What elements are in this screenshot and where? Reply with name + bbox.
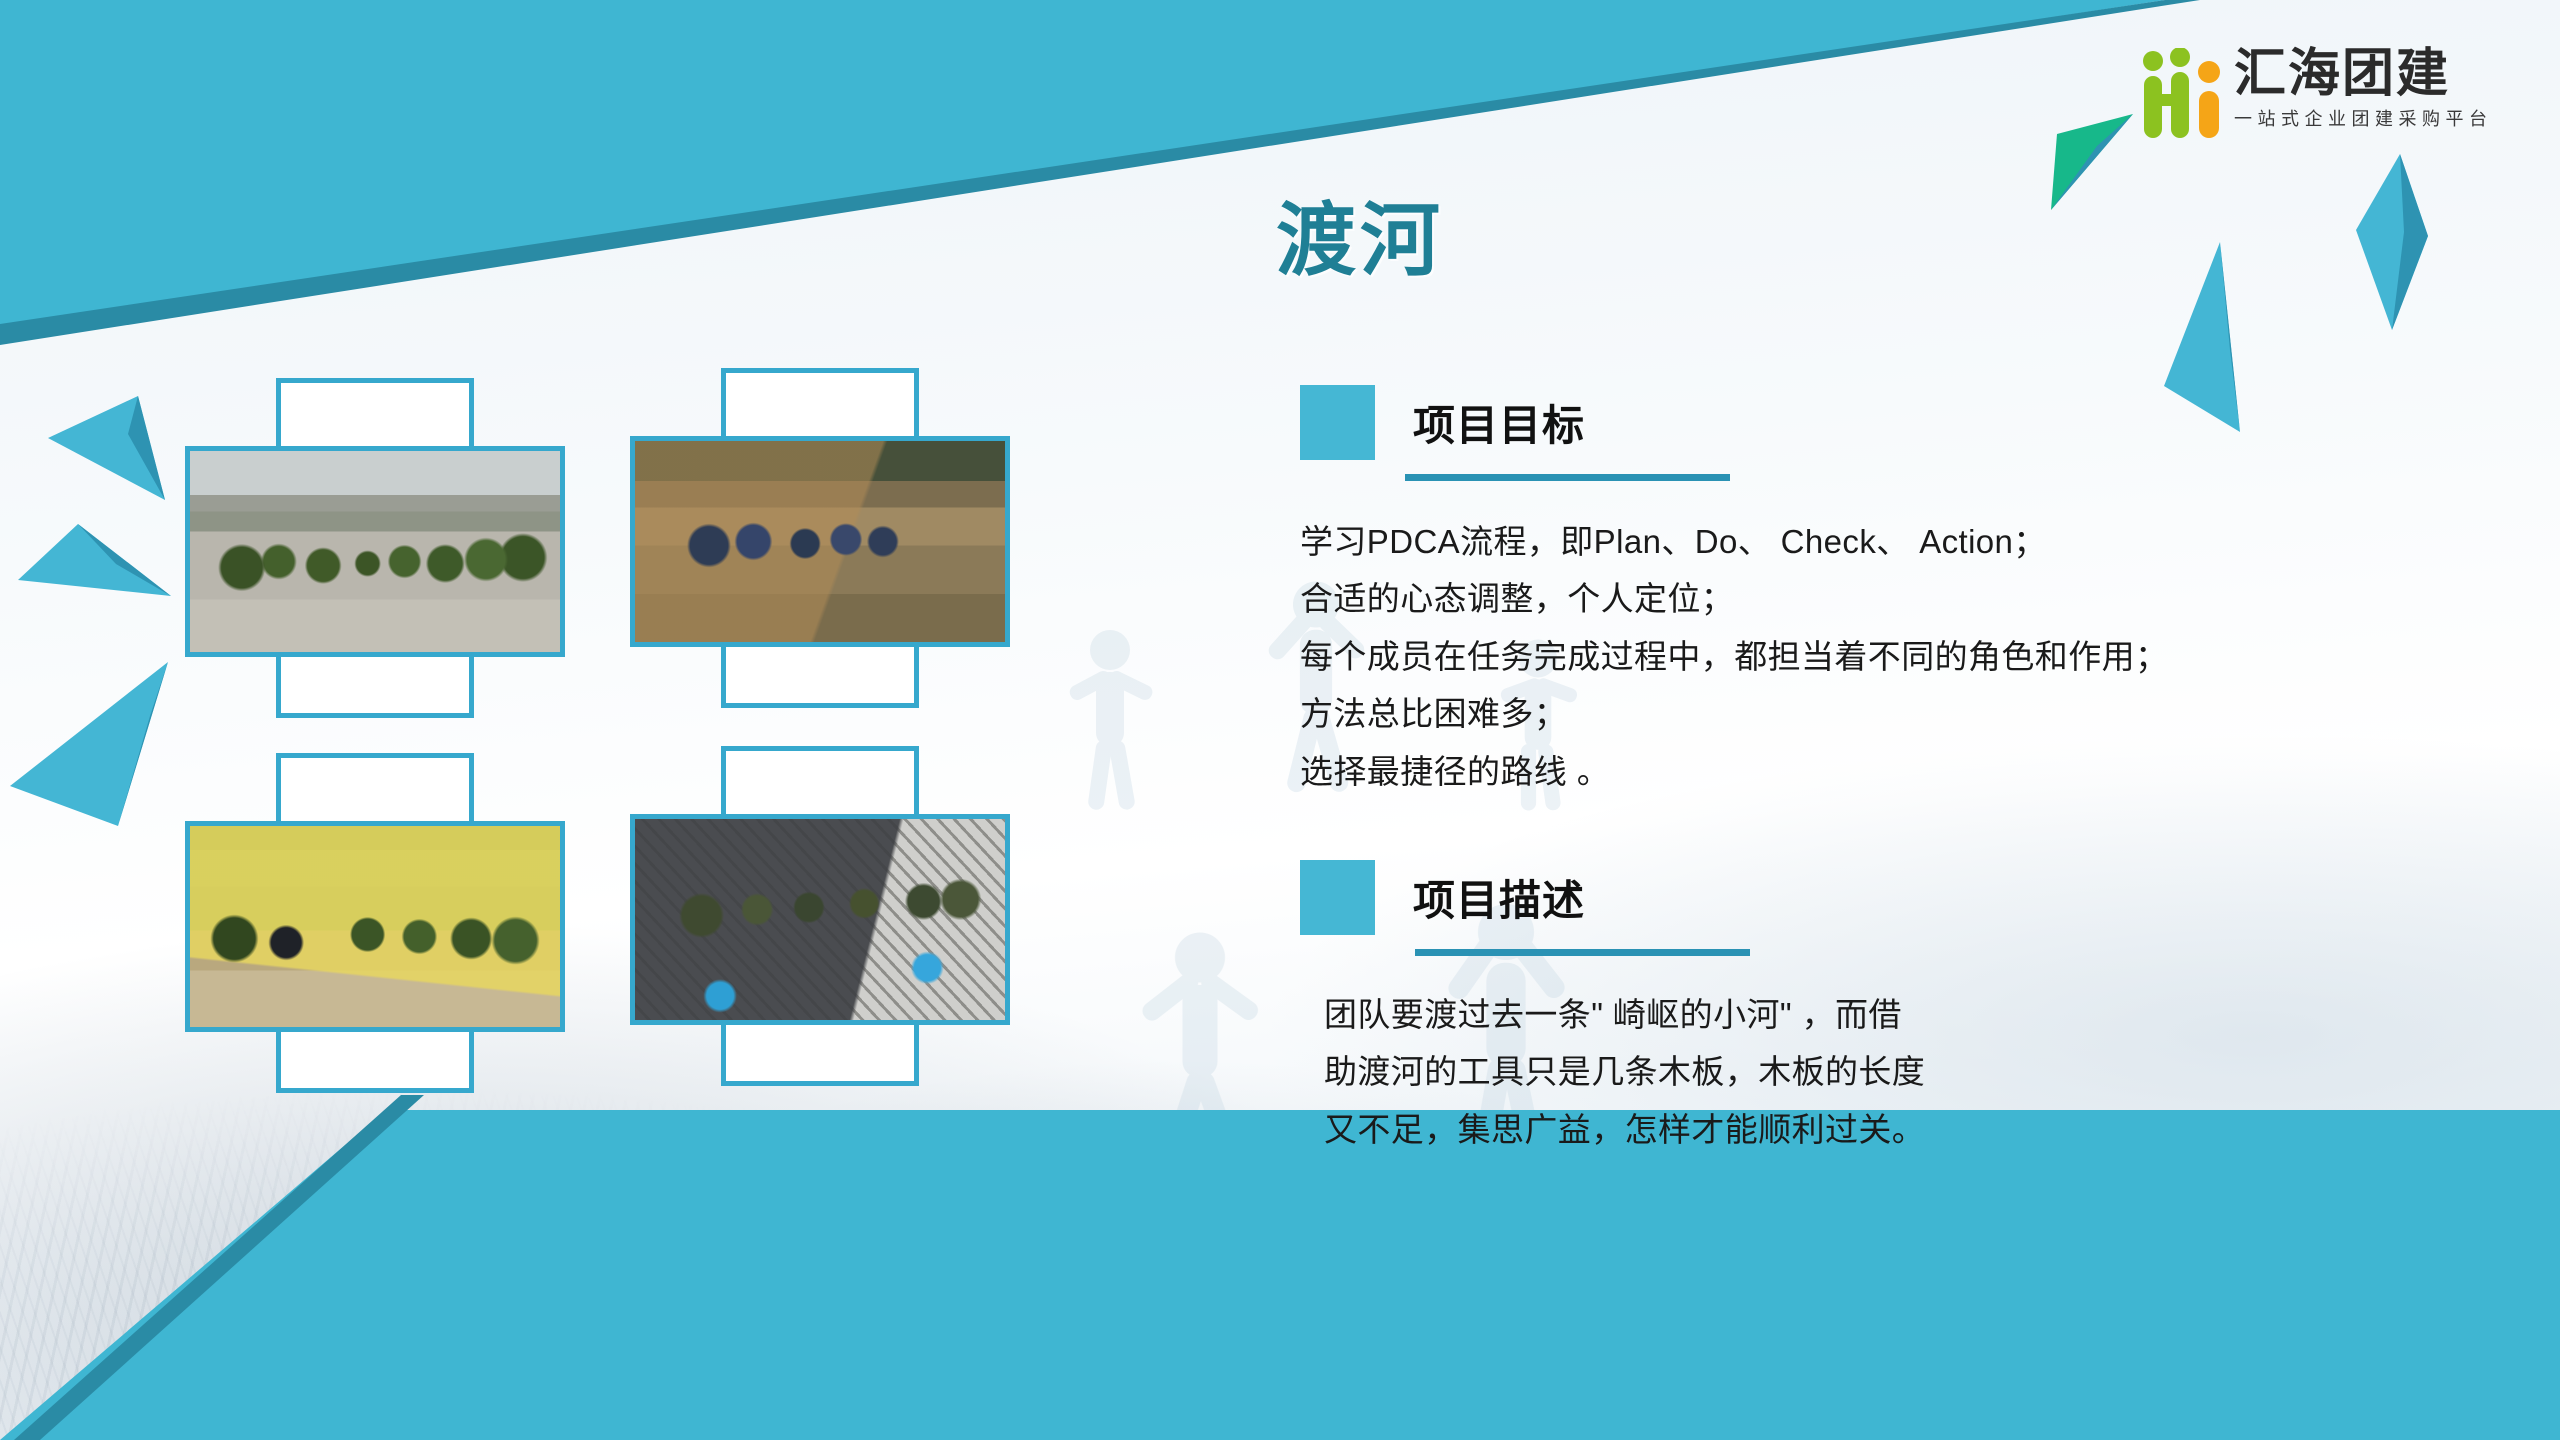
photo-2-image — [630, 436, 1010, 647]
brand-tagline: 一站式企业团建采购平台 — [2234, 105, 2493, 131]
photo-4-image — [630, 814, 1010, 1025]
deco-diamond-right — [2330, 140, 2460, 340]
section-description-rule — [1415, 949, 1750, 956]
brand-logo: 汇海团建 一站式企业团建采购平台 — [2140, 48, 2493, 140]
page-title: 渡河 — [1276, 176, 1444, 292]
slide-canvas: 汇海团建 一站式企业团建采购平台 渡河 — [0, 0, 2560, 1440]
section-description-header: 项目描述 — [1300, 860, 2490, 935]
bottom-diagonal-band — [0, 1110, 2560, 1440]
section-objective-body: 学习PDCA流程，即Plan、Do、 Check、 Action； 合适的心态调… — [1300, 513, 2490, 800]
section-description: 项目描述 团队要渡过去一条" 崎岖的小河" ，而借 助渡河的工具只是几条木板，木… — [1300, 860, 2490, 1158]
section-objective-marker — [1300, 385, 1375, 460]
section-description-title: 项目描述 — [1413, 867, 1585, 928]
photo-3-image — [185, 821, 565, 1032]
deco-triangle-left-bottom — [0, 628, 190, 828]
photo-2 — [630, 368, 1010, 708]
hi-people-icon — [2140, 48, 2226, 140]
photo-4 — [630, 746, 1010, 1086]
section-objective-title: 项目目标 — [1413, 392, 1585, 453]
section-objective-rule — [1405, 474, 1730, 481]
brand-name: 汇海团建 — [2234, 48, 2493, 101]
section-objective: 项目目标 学习PDCA流程，即Plan、Do、 Check、 Action； 合… — [1300, 385, 2490, 800]
section-objective-header: 项目目标 — [1300, 385, 2490, 460]
deco-triangle-left-middle — [6, 508, 186, 648]
section-description-body: 团队要渡过去一条" 崎岖的小河" ，而借 助渡河的工具只是几条木板，木板的长度 … — [1324, 986, 2490, 1158]
photo-collage — [185, 378, 1195, 1118]
photo-1-image — [185, 446, 565, 657]
section-description-marker — [1300, 860, 1375, 935]
photo-3 — [185, 753, 565, 1093]
deco-triangle-left-top — [10, 376, 180, 516]
photo-1 — [185, 378, 565, 718]
